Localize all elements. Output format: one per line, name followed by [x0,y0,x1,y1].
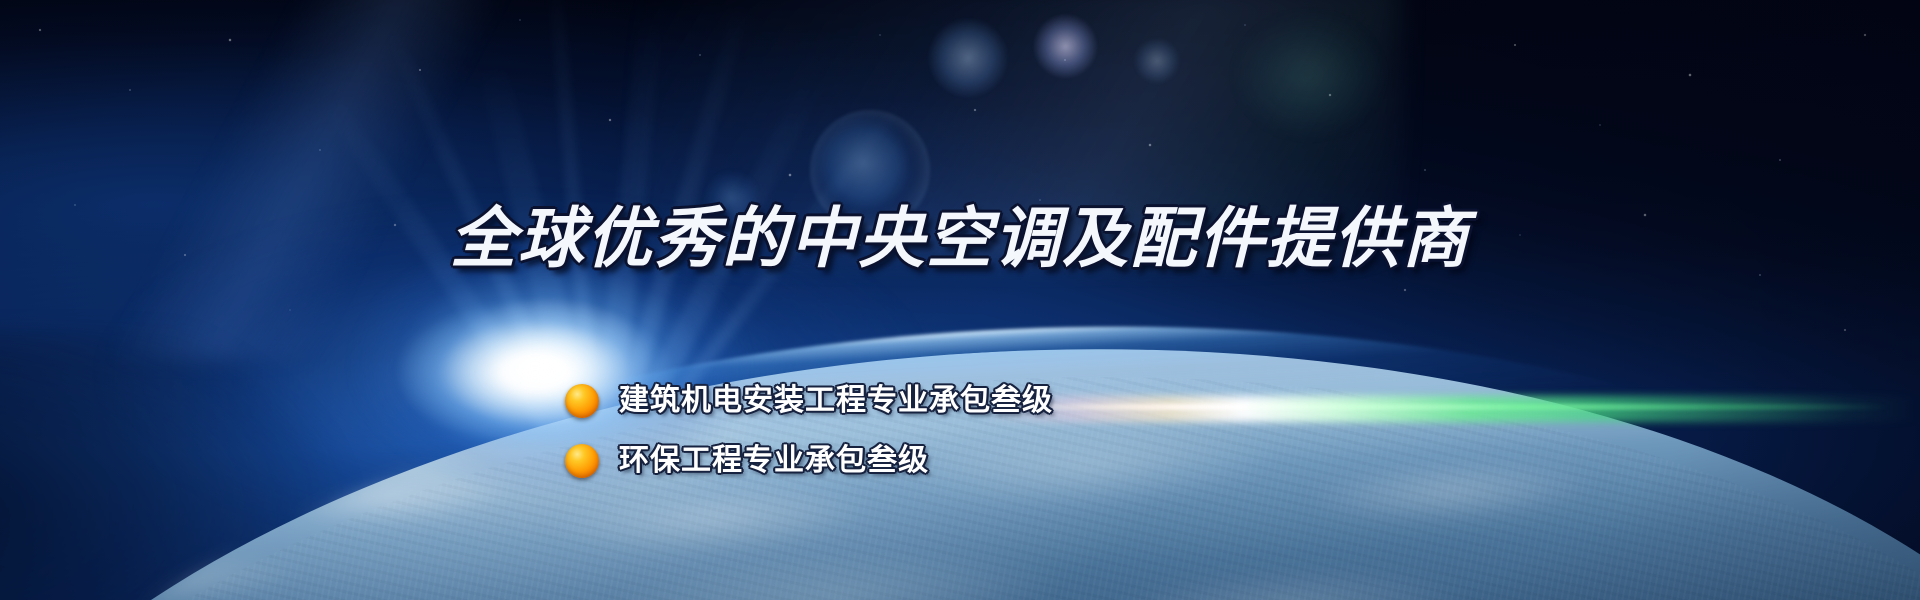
list-item: 环保工程专业承包叁级 [565,435,1053,487]
orange-dot-icon [565,384,599,418]
list-item: 建筑机电安装工程专业承包叁级 [565,375,1053,427]
hero-banner: 全球优秀的中央空调及配件提供商 建筑机电安装工程专业承包叁级 环保工程专业承包叁… [0,0,1920,600]
bullet-label: 建筑机电安装工程专业承包叁级 [619,386,1053,416]
bullet-label: 环保工程专业承包叁级 [619,446,929,476]
banner-content: 全球优秀的中央空调及配件提供商 建筑机电安装工程专业承包叁级 环保工程专业承包叁… [0,0,1920,600]
banner-bullet-list: 建筑机电安装工程专业承包叁级 环保工程专业承包叁级 [565,375,1053,495]
orange-dot-icon [565,444,599,478]
banner-headline: 全球优秀的中央空调及配件提供商 [0,205,1920,271]
